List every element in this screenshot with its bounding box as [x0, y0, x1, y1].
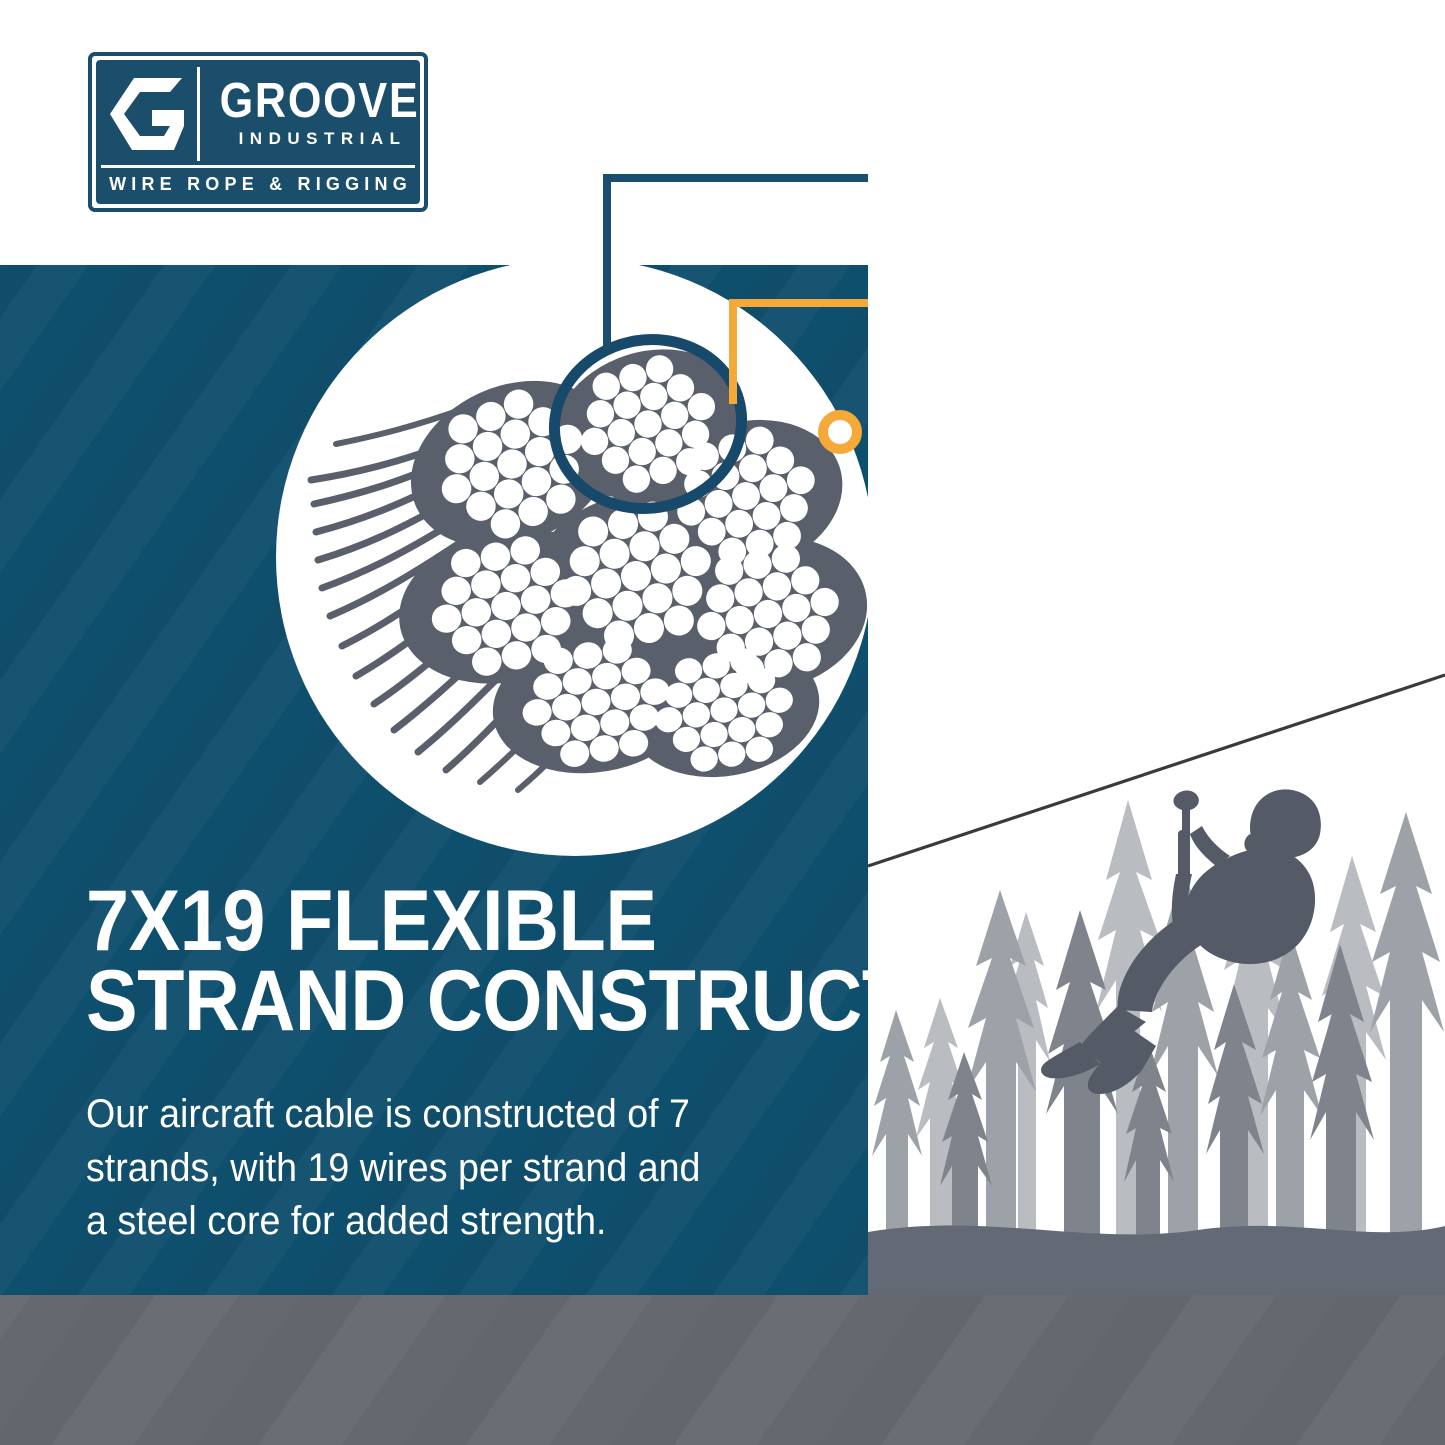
logo-tagline: WIRE ROPE & RIGGING	[104, 174, 412, 195]
logo-brand-name: GROOVE	[220, 79, 420, 124]
logo-wordmark: GROOVE INDUSTRIAL	[200, 63, 433, 165]
logo-tagline-row: WIRE ROPE & RIGGING	[99, 168, 417, 201]
headline-line-2: STRAND CONSTRUCTION	[86, 962, 770, 1042]
brand-logo[interactable]: GROOVE INDUSTRIAL WIRE ROPE & RIGGING	[88, 52, 428, 212]
bottom-bar-wave-texture	[0, 1295, 1445, 1445]
bottom-accent-bar	[0, 1295, 1445, 1445]
headline-line-1: 7X19 FLEXIBLE	[86, 882, 770, 962]
wire-marker-ring	[823, 415, 857, 449]
body-description: Our aircraft cable is constructed of 7 s…	[86, 1088, 725, 1249]
wire-rope-illustration	[276, 258, 874, 856]
logo-brand-subname: INDUSTRIAL	[233, 129, 407, 149]
zipline-scene	[868, 0, 1445, 1295]
logo-inner-frame: GROOVE INDUSTRIAL WIRE ROPE & RIGGING	[96, 60, 420, 204]
zipline-cable	[868, 675, 1445, 866]
groove-g-monogram-icon	[99, 63, 197, 165]
logo-top-row: GROOVE INDUSTRIAL	[99, 63, 417, 165]
page-title: 7X19 FLEXIBLE STRAND CONSTRUCTION	[86, 882, 770, 1042]
infographic-canvas: 7 STRANDS 19 WIRES PER STRAND HOT DIP GA…	[0, 0, 1445, 1445]
ground-haze	[868, 1225, 1445, 1295]
